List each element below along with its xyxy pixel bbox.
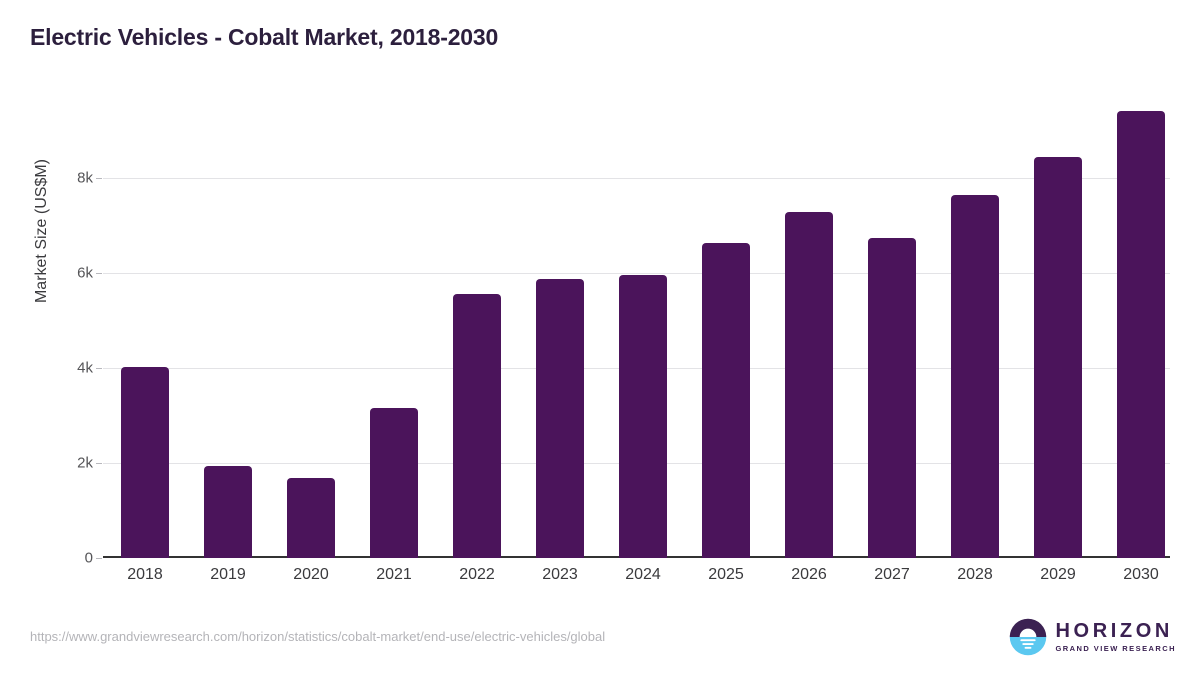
x-axis-tick-label: 2018 <box>105 566 185 584</box>
y-axis-tick <box>96 178 102 179</box>
y-axis-title: Market Size (US$M) <box>33 71 51 391</box>
logo-text: HORIZON GRAND VIEW RESEARCH <box>1056 621 1176 653</box>
y-axis-tick-label: 6k <box>77 264 93 281</box>
x-axis-tick-label: 2022 <box>437 566 517 584</box>
x-axis-tick-label: 2024 <box>603 566 683 584</box>
bar[interactable] <box>536 279 584 558</box>
bar[interactable] <box>121 367 169 558</box>
bar[interactable] <box>453 294 501 558</box>
x-axis-tick-label: 2019 <box>188 566 268 584</box>
y-axis-tick-label: 0 <box>85 550 93 567</box>
x-axis-tick-label: 2025 <box>686 566 766 584</box>
y-axis-tick-label: 8k <box>77 169 93 186</box>
x-axis-tick-label: 2029 <box>1018 566 1098 584</box>
bar[interactable] <box>1117 111 1165 558</box>
x-axis-tick-label: 2026 <box>769 566 849 584</box>
x-axis-tick-label: 2020 <box>271 566 351 584</box>
chart-page: Electric Vehicles - Cobalt Market, 2018-… <box>0 0 1200 675</box>
x-axis-tick-label: 2023 <box>520 566 600 584</box>
gridline <box>103 273 1170 274</box>
bar[interactable] <box>287 478 335 558</box>
logo-name: HORIZON <box>1056 621 1176 641</box>
y-axis-tick-labels: 02k4k6k8k <box>55 90 93 558</box>
bar[interactable] <box>785 212 833 558</box>
bar[interactable] <box>951 195 999 558</box>
x-axis-tick-label: 2028 <box>935 566 1015 584</box>
source-url[interactable]: https://www.grandviewresearch.com/horizo… <box>30 629 605 644</box>
logo-tagline: GRAND VIEW RESEARCH <box>1056 645 1176 653</box>
y-axis-tick <box>96 273 102 274</box>
x-axis-tick-label: 2030 <box>1101 566 1181 584</box>
y-axis-tick-label: 4k <box>77 359 93 376</box>
brand-logo: HORIZON GRAND VIEW RESEARCH <box>1009 618 1176 656</box>
y-axis-tick <box>96 368 102 369</box>
bar[interactable] <box>370 408 418 558</box>
plot-area <box>103 90 1170 558</box>
horizon-logo-icon <box>1009 618 1047 656</box>
page-title: Electric Vehicles - Cobalt Market, 2018-… <box>30 24 498 51</box>
bar[interactable] <box>204 466 252 558</box>
bar[interactable] <box>1034 157 1082 558</box>
y-axis-tick <box>96 463 102 464</box>
bar[interactable] <box>619 275 667 558</box>
gridline <box>103 178 1170 179</box>
y-axis-tick <box>96 558 102 559</box>
bar[interactable] <box>868 238 916 558</box>
x-axis-tick-label: 2021 <box>354 566 434 584</box>
x-axis-tick-label: 2027 <box>852 566 932 584</box>
y-axis-tick-label: 2k <box>77 454 93 471</box>
bar[interactable] <box>702 243 750 558</box>
